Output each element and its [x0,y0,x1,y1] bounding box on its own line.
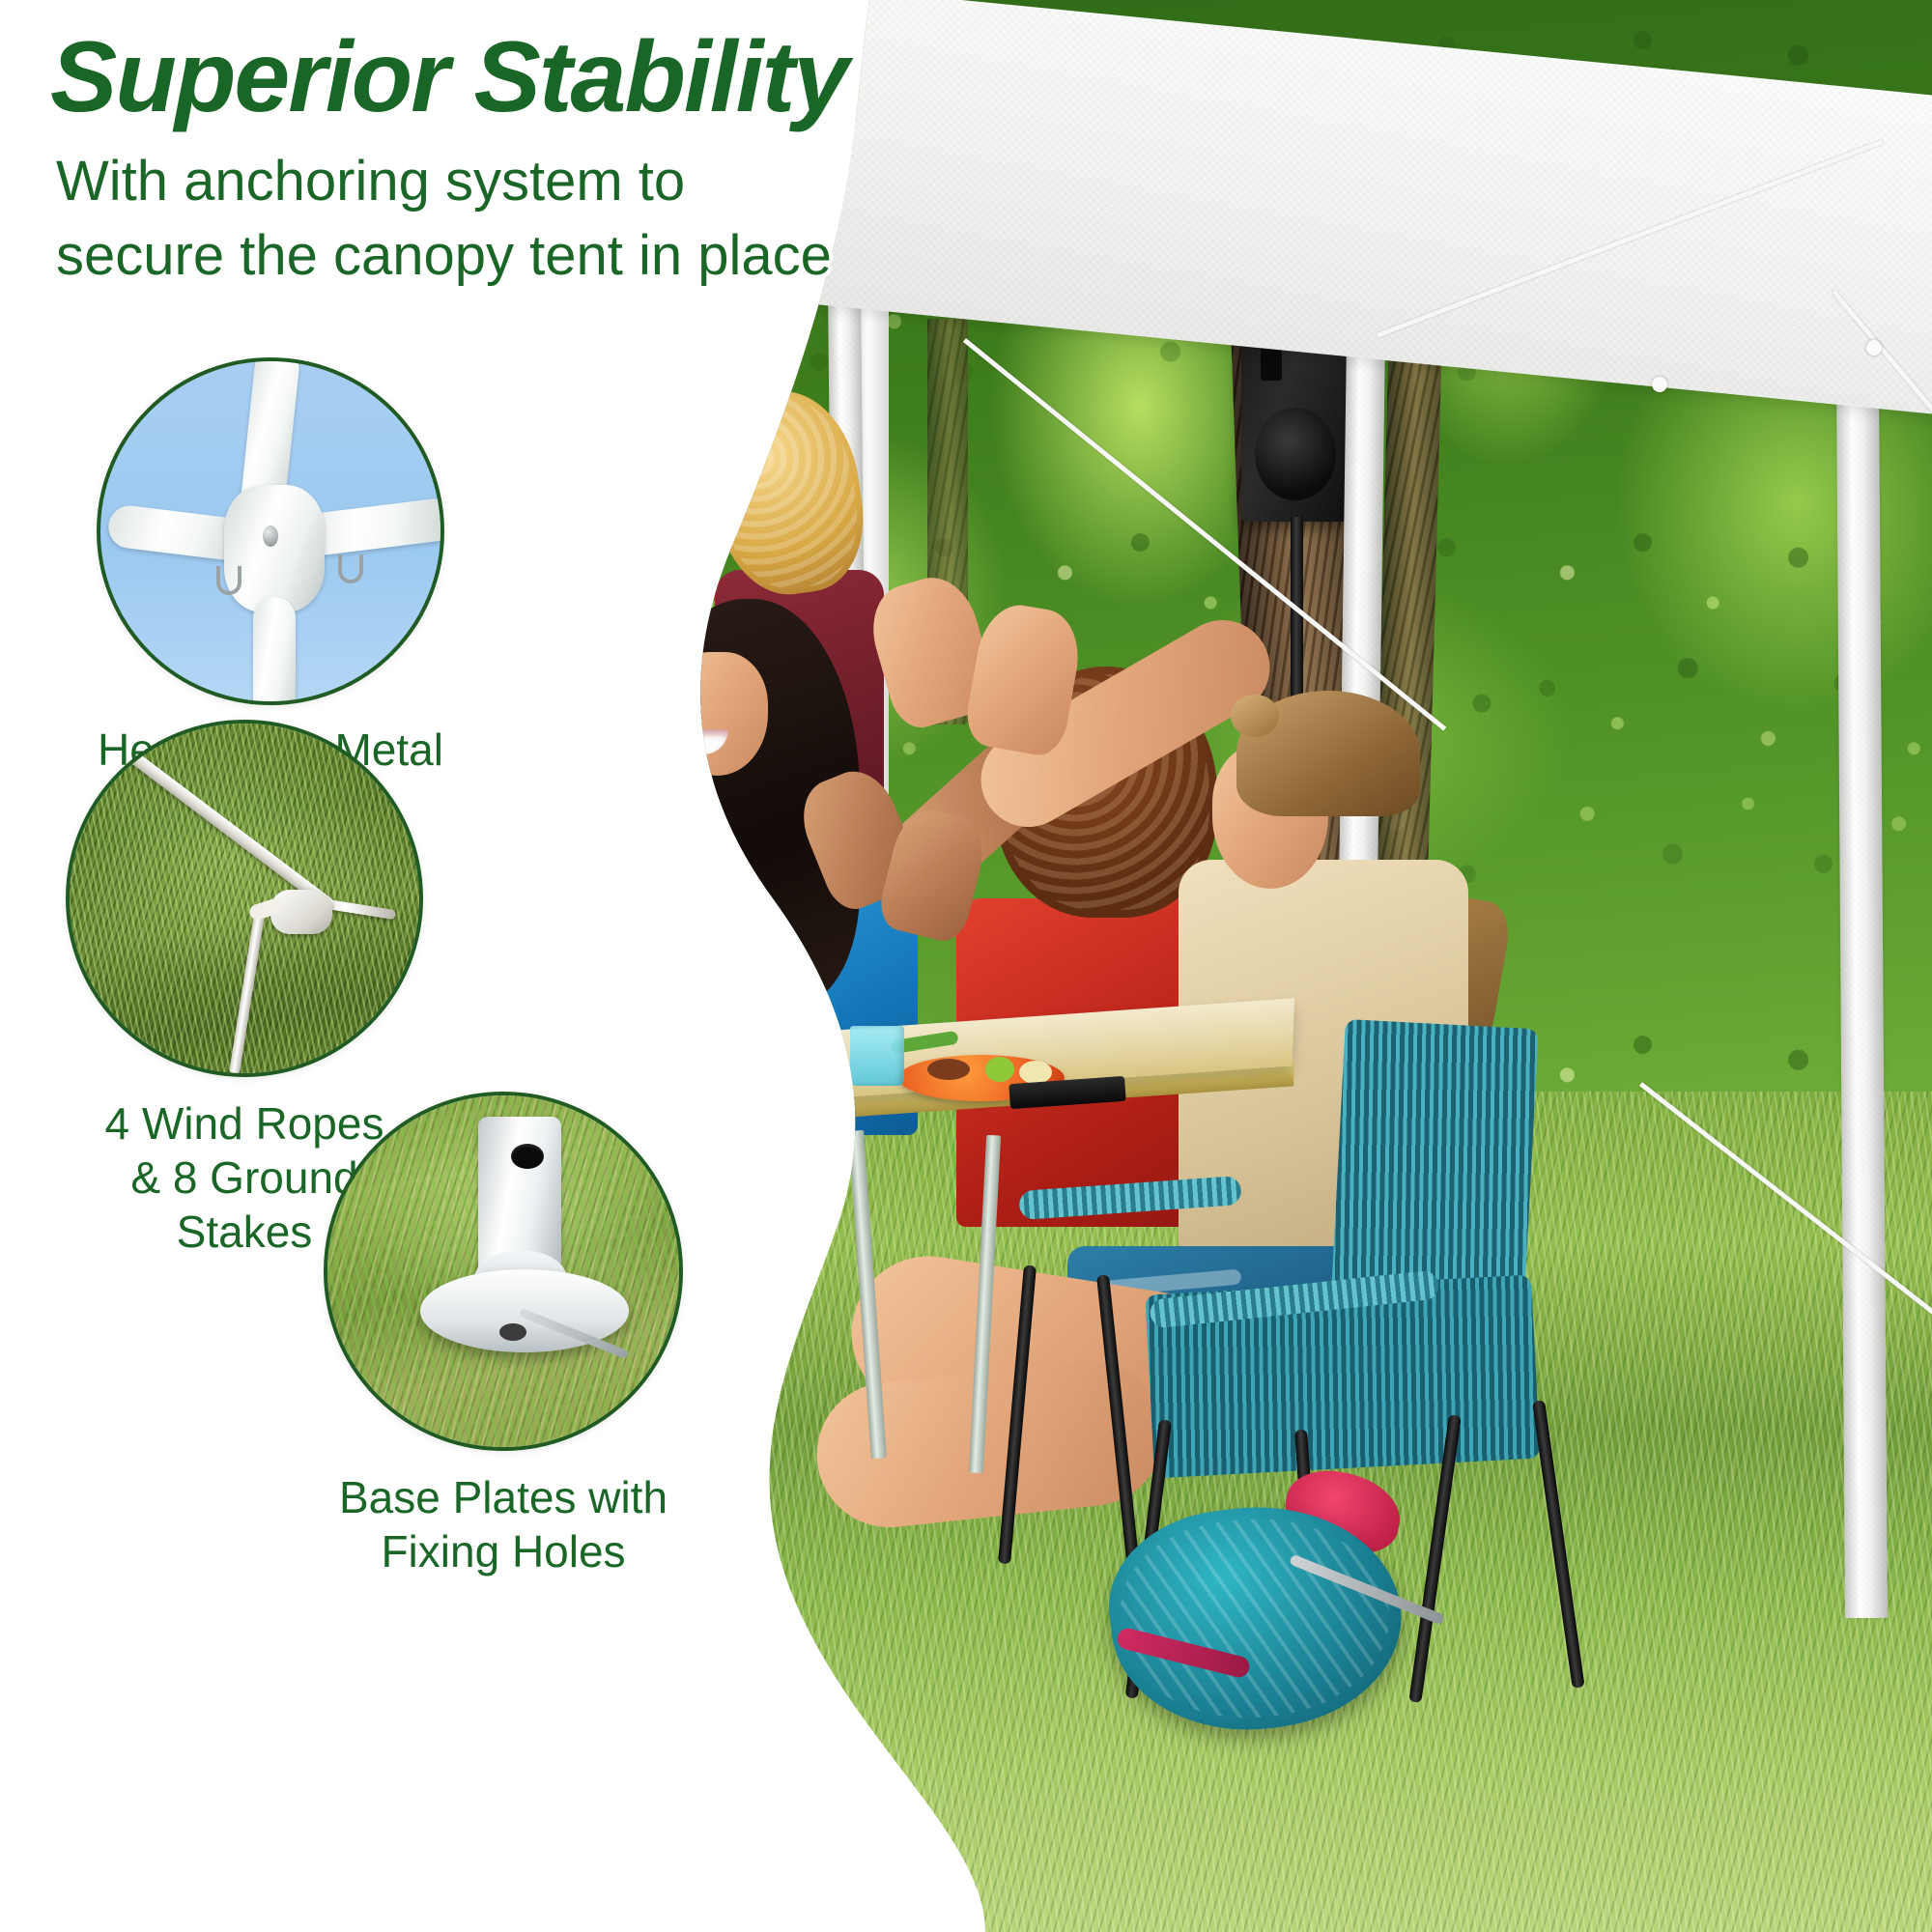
man-hair [1236,691,1420,816]
beer-bottle [744,976,788,1097]
feature-caption-line-2: Fixing Holes [324,1524,683,1578]
frame-hook [216,566,241,595]
drinking-glass [616,1014,667,1070]
frame-screw [263,526,278,547]
fixing-hole [511,1144,544,1169]
woman-face [667,652,768,776]
frame-hook [338,554,363,583]
woman-arm [611,948,770,1055]
feature-caption-line-1: Base Plates with [324,1470,683,1524]
food-plate [715,1032,829,1070]
feature-wind-ropes-ground-stakes: 4 Wind Ropes & 8 Ground Stakes [66,720,423,1077]
subtitle-line-2: secure the canopy tent in place [56,219,848,294]
drinking-glass [587,995,630,1045]
frame-hub-connector [224,485,325,612]
frame-lower-tube [253,597,296,705]
product-feature-poster: Superior Stability With anchoring system… [0,0,1932,1932]
rope-stake-photo [66,720,423,1077]
feature-caption: Base Plates with Fixing Holes [324,1470,683,1578]
feature-base-plates-fixing-holes: Base Plates with Fixing Holes [324,1092,683,1451]
frame-joint-photo [97,357,444,705]
feature-heavy-duty-metal-frame: Heavy-duty Metal Frame [97,357,444,705]
food-item [985,1057,1014,1082]
page-title: Superior Stability [50,25,847,130]
subtitle-line-1: With anchoring system to [56,145,848,219]
drinking-glass [850,1026,904,1086]
beer-bottle [649,961,696,1087]
chair-back [1330,1019,1538,1319]
rope-anchor-tab [1652,377,1667,392]
rope-knot [270,890,332,934]
rope-anchor-tab [1866,340,1882,355]
base-plate-pin-hole [499,1323,526,1341]
speaker-cone [1255,408,1336,500]
food-item [927,1059,970,1080]
base-plate-photo [324,1092,683,1451]
subtitle: With anchoring system to secure the cano… [56,145,848,293]
